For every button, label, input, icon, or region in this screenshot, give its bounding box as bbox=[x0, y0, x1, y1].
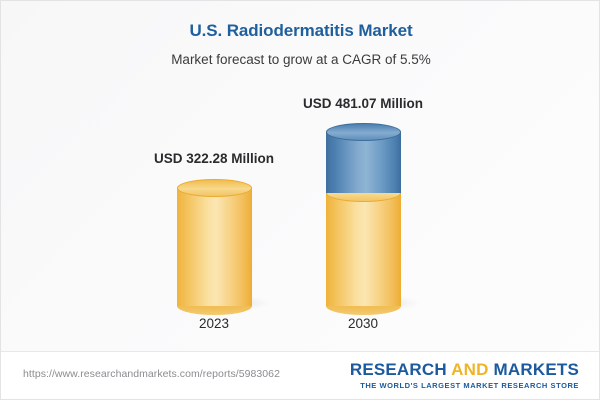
cylinder-body-base bbox=[177, 188, 252, 306]
chart-card: U.S. Radiodermatitis Market Market forec… bbox=[0, 0, 600, 400]
cylinder-2023 bbox=[177, 179, 252, 306]
cylinder-top-cap bbox=[326, 123, 401, 141]
logo-word-and: AND bbox=[451, 360, 488, 379]
bar-2023[interactable] bbox=[177, 179, 252, 306]
logo-word-markets: MARKETS bbox=[494, 360, 579, 379]
cylinder-top-cap bbox=[177, 179, 252, 197]
logo-tagline: THE WORLD'S LARGEST MARKET RESEARCH STOR… bbox=[350, 382, 579, 390]
bar-2030[interactable] bbox=[326, 123, 401, 306]
logo-wordmark: RESEARCH AND MARKETS bbox=[350, 361, 579, 378]
cylinder-2030 bbox=[326, 123, 401, 306]
logo-word-research: RESEARCH bbox=[350, 360, 447, 379]
axis-label-2030: 2030 bbox=[253, 316, 473, 331]
plot-area: USD 322.28 Million 2023 USD 481.07 Milli… bbox=[1, 1, 600, 353]
value-label-2030: USD 481.07 Million bbox=[253, 96, 473, 111]
cylinder-segment-base bbox=[326, 193, 401, 306]
source-url[interactable]: https://www.researchandmarkets.com/repor… bbox=[23, 368, 280, 380]
cylinder-segment-growth bbox=[326, 132, 401, 193]
footer: https://www.researchandmarkets.com/repor… bbox=[1, 351, 599, 399]
value-label-2023: USD 322.28 Million bbox=[104, 151, 324, 166]
brand-logo[interactable]: RESEARCH AND MARKETS THE WORLD'S LARGEST… bbox=[350, 361, 579, 390]
